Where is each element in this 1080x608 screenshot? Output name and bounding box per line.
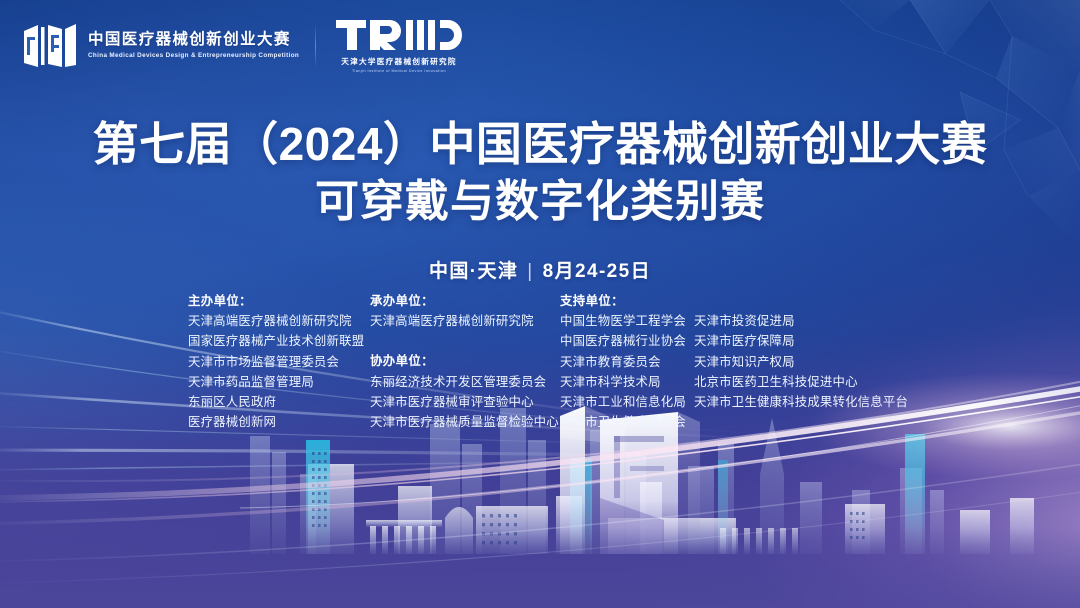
host-item: 国家医疗器械产业技术创新联盟 [188, 331, 370, 351]
host-item: 天津市市场监督管理委员会 [188, 352, 370, 372]
logo-divider [315, 24, 316, 68]
supporter-list-right: 天津市投资促进局 天津市医疗保障局 天津市知识产权局 北京市医药卫生科技促进中心… [694, 311, 908, 432]
supporter-item: 天津市医疗保障局 [694, 331, 908, 351]
supporter-item: 天津市卫生健康科技成果转化信息平台 [694, 392, 908, 412]
coorganizer-item: 东丽经济技术开发区管理委员会 [370, 372, 560, 392]
host-item: 医疗器械创新网 [188, 412, 370, 432]
host-column: 主办单位： 天津高端医疗器械创新研究院 国家医疗器械产业技术创新联盟 天津市市场… [188, 291, 370, 433]
door-logo-icon [22, 21, 78, 71]
undertaker-column: 承办单位： 天津高端医疗器械创新研究院 协办单位： 东丽经济技术开发区管理委员会… [370, 291, 560, 432]
supporter-item: 中国医疗器械行业协会 [560, 331, 694, 351]
cmdc-logo: 中国医疗器械创新创业大赛 China Medical Devices Desig… [22, 21, 295, 71]
trmd-wordmark-icon [336, 18, 462, 52]
trmd-logo: 天津大学医疗器械创新研究院 Tianjin Institute of Medic… [336, 18, 462, 73]
title-line-2: 可穿戴与数字化类别赛 [0, 174, 1080, 229]
organizations-block: 主办单位： 天津高端医疗器械创新研究院 国家医疗器械产业技术创新联盟 天津市市场… [188, 291, 908, 433]
supporter-lists: 中国生物医学工程学会 中国医疗器械行业协会 天津市教育委员会 天津市科学技术局 … [560, 311, 908, 432]
supporter-list-left: 中国生物医学工程学会 中国医疗器械行业协会 天津市教育委员会 天津市科学技术局 … [560, 311, 694, 432]
supporter-item: 天津市知识产权局 [694, 352, 908, 372]
subtitle-location: 中国·天津 [429, 261, 518, 282]
supporter-item: 中国生物医学工程学会 [560, 311, 694, 331]
subtitle-date: 8月24-25日 [543, 261, 651, 282]
coorganizer-heading: 协办单位： [370, 351, 560, 371]
coorganizer-item: 天津市医疗器械审评查验中心 [370, 392, 560, 412]
undertaker-item: 天津高端医疗器械创新研究院 [370, 311, 560, 331]
supporter-item: 天津市投资促进局 [694, 311, 908, 331]
subtitle-separator: | [518, 261, 542, 283]
title-line-1: 第七届（2024）中国医疗器械创新创业大赛 [0, 116, 1080, 174]
trmd-logo-cn: 天津大学医疗器械创新研究院 [341, 56, 457, 67]
cmdc-logo-en: China Medical Devices Design & Entrepren… [88, 52, 299, 60]
supporter-item: 天津市工业和信息化局 [560, 392, 694, 412]
undertaker-heading: 承办单位： [370, 291, 560, 311]
supporter-item: 天津市卫生健康委员会 [560, 412, 694, 432]
poster-subtitle: 中国·天津|8月24-25日 [0, 256, 1080, 283]
host-heading: 主办单位： [188, 291, 370, 311]
supporter-item: 天津市教育委员会 [560, 352, 694, 372]
host-item: 东丽区人民政府 [188, 392, 370, 412]
cmdc-logo-cn: 中国医疗器械创新创业大赛 [88, 31, 295, 49]
poster-title: 第七届（2024）中国医疗器械创新创业大赛 可穿戴与数字化类别赛 [0, 116, 1080, 229]
coorganizer-item: 天津市医疗器械质量监督检验中心 [370, 412, 560, 432]
host-item: 天津市药品监督管理局 [188, 372, 370, 392]
column-spacer [370, 331, 560, 351]
supporter-heading: 支持单位： [560, 291, 908, 311]
logo-bar: 中国医疗器械创新创业大赛 China Medical Devices Desig… [22, 18, 462, 73]
poster-canvas: 中国医疗器械创新创业大赛 China Medical Devices Desig… [0, 0, 1080, 608]
supporter-column: 支持单位： 中国生物医学工程学会 中国医疗器械行业协会 天津市教育委员会 天津市… [560, 291, 908, 433]
supporter-item: 天津市科学技术局 [560, 372, 694, 392]
trmd-logo-en: Tianjin Institute of Medical Device Inno… [352, 69, 446, 73]
supporter-item: 北京市医药卫生科技促进中心 [694, 372, 908, 392]
host-item: 天津高端医疗器械创新研究院 [188, 311, 370, 331]
